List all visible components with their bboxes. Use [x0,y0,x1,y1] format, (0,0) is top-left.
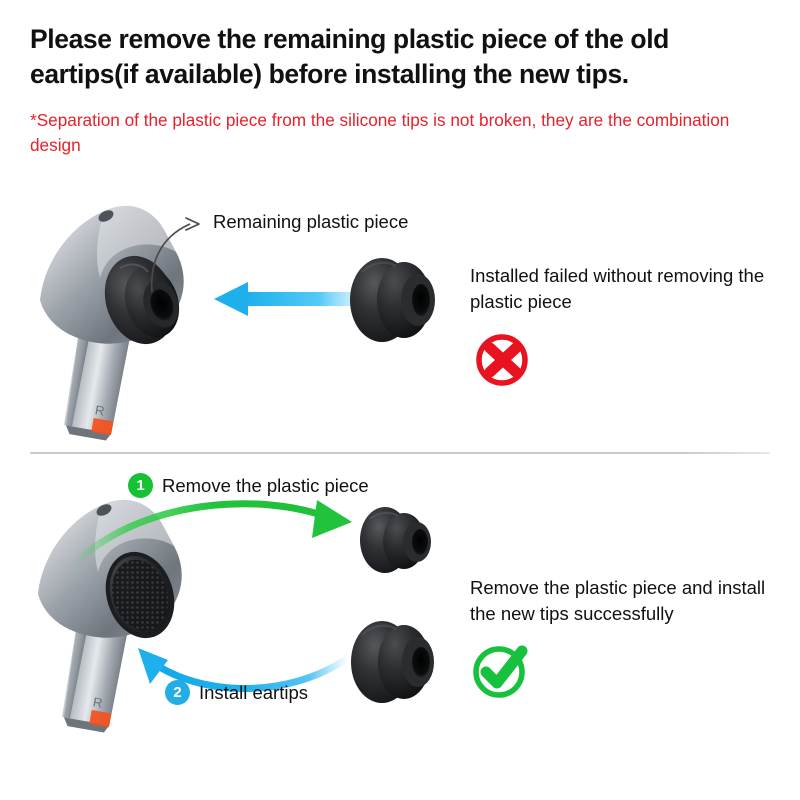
svg-text:R: R [94,402,106,418]
callout-label-remaining-plastic-piece: Remaining plastic piece [213,211,408,233]
svg-text:R: R [92,694,104,710]
circle-x-icon [473,327,535,389]
plastic-piece-removed [360,507,431,573]
step-1-label: Remove the plastic piece [162,475,369,497]
earbud-without-plastic-piece: R [38,500,182,734]
page-title: Please remove the remaining plastic piec… [30,22,778,92]
circle-check-icon [468,637,534,703]
success-result-text: Remove the plastic piece and install the… [470,575,790,626]
section-divider [30,452,770,454]
silicone-eartip-top [350,258,435,342]
fail-result-text: Installed failed without removing the pl… [470,263,782,314]
install-direction-arrow [214,282,378,316]
step-2-row: 2 Install eartips [165,680,308,705]
callout-leader [152,218,199,292]
earbud-with-plastic-piece: R [40,206,188,442]
silicone-eartip-bottom [351,621,434,703]
step-2-badge: 2 [165,680,190,705]
step-1-badge: 1 [128,473,153,498]
page-note: *Separation of the plastic piece from th… [30,108,782,158]
remove-plastic-arrow [72,500,352,566]
instruction-graphic: Please remove the remaining plastic piec… [0,0,800,800]
step-1-row: 1 Remove the plastic piece [128,473,369,498]
step-2-label: Install eartips [199,682,308,704]
